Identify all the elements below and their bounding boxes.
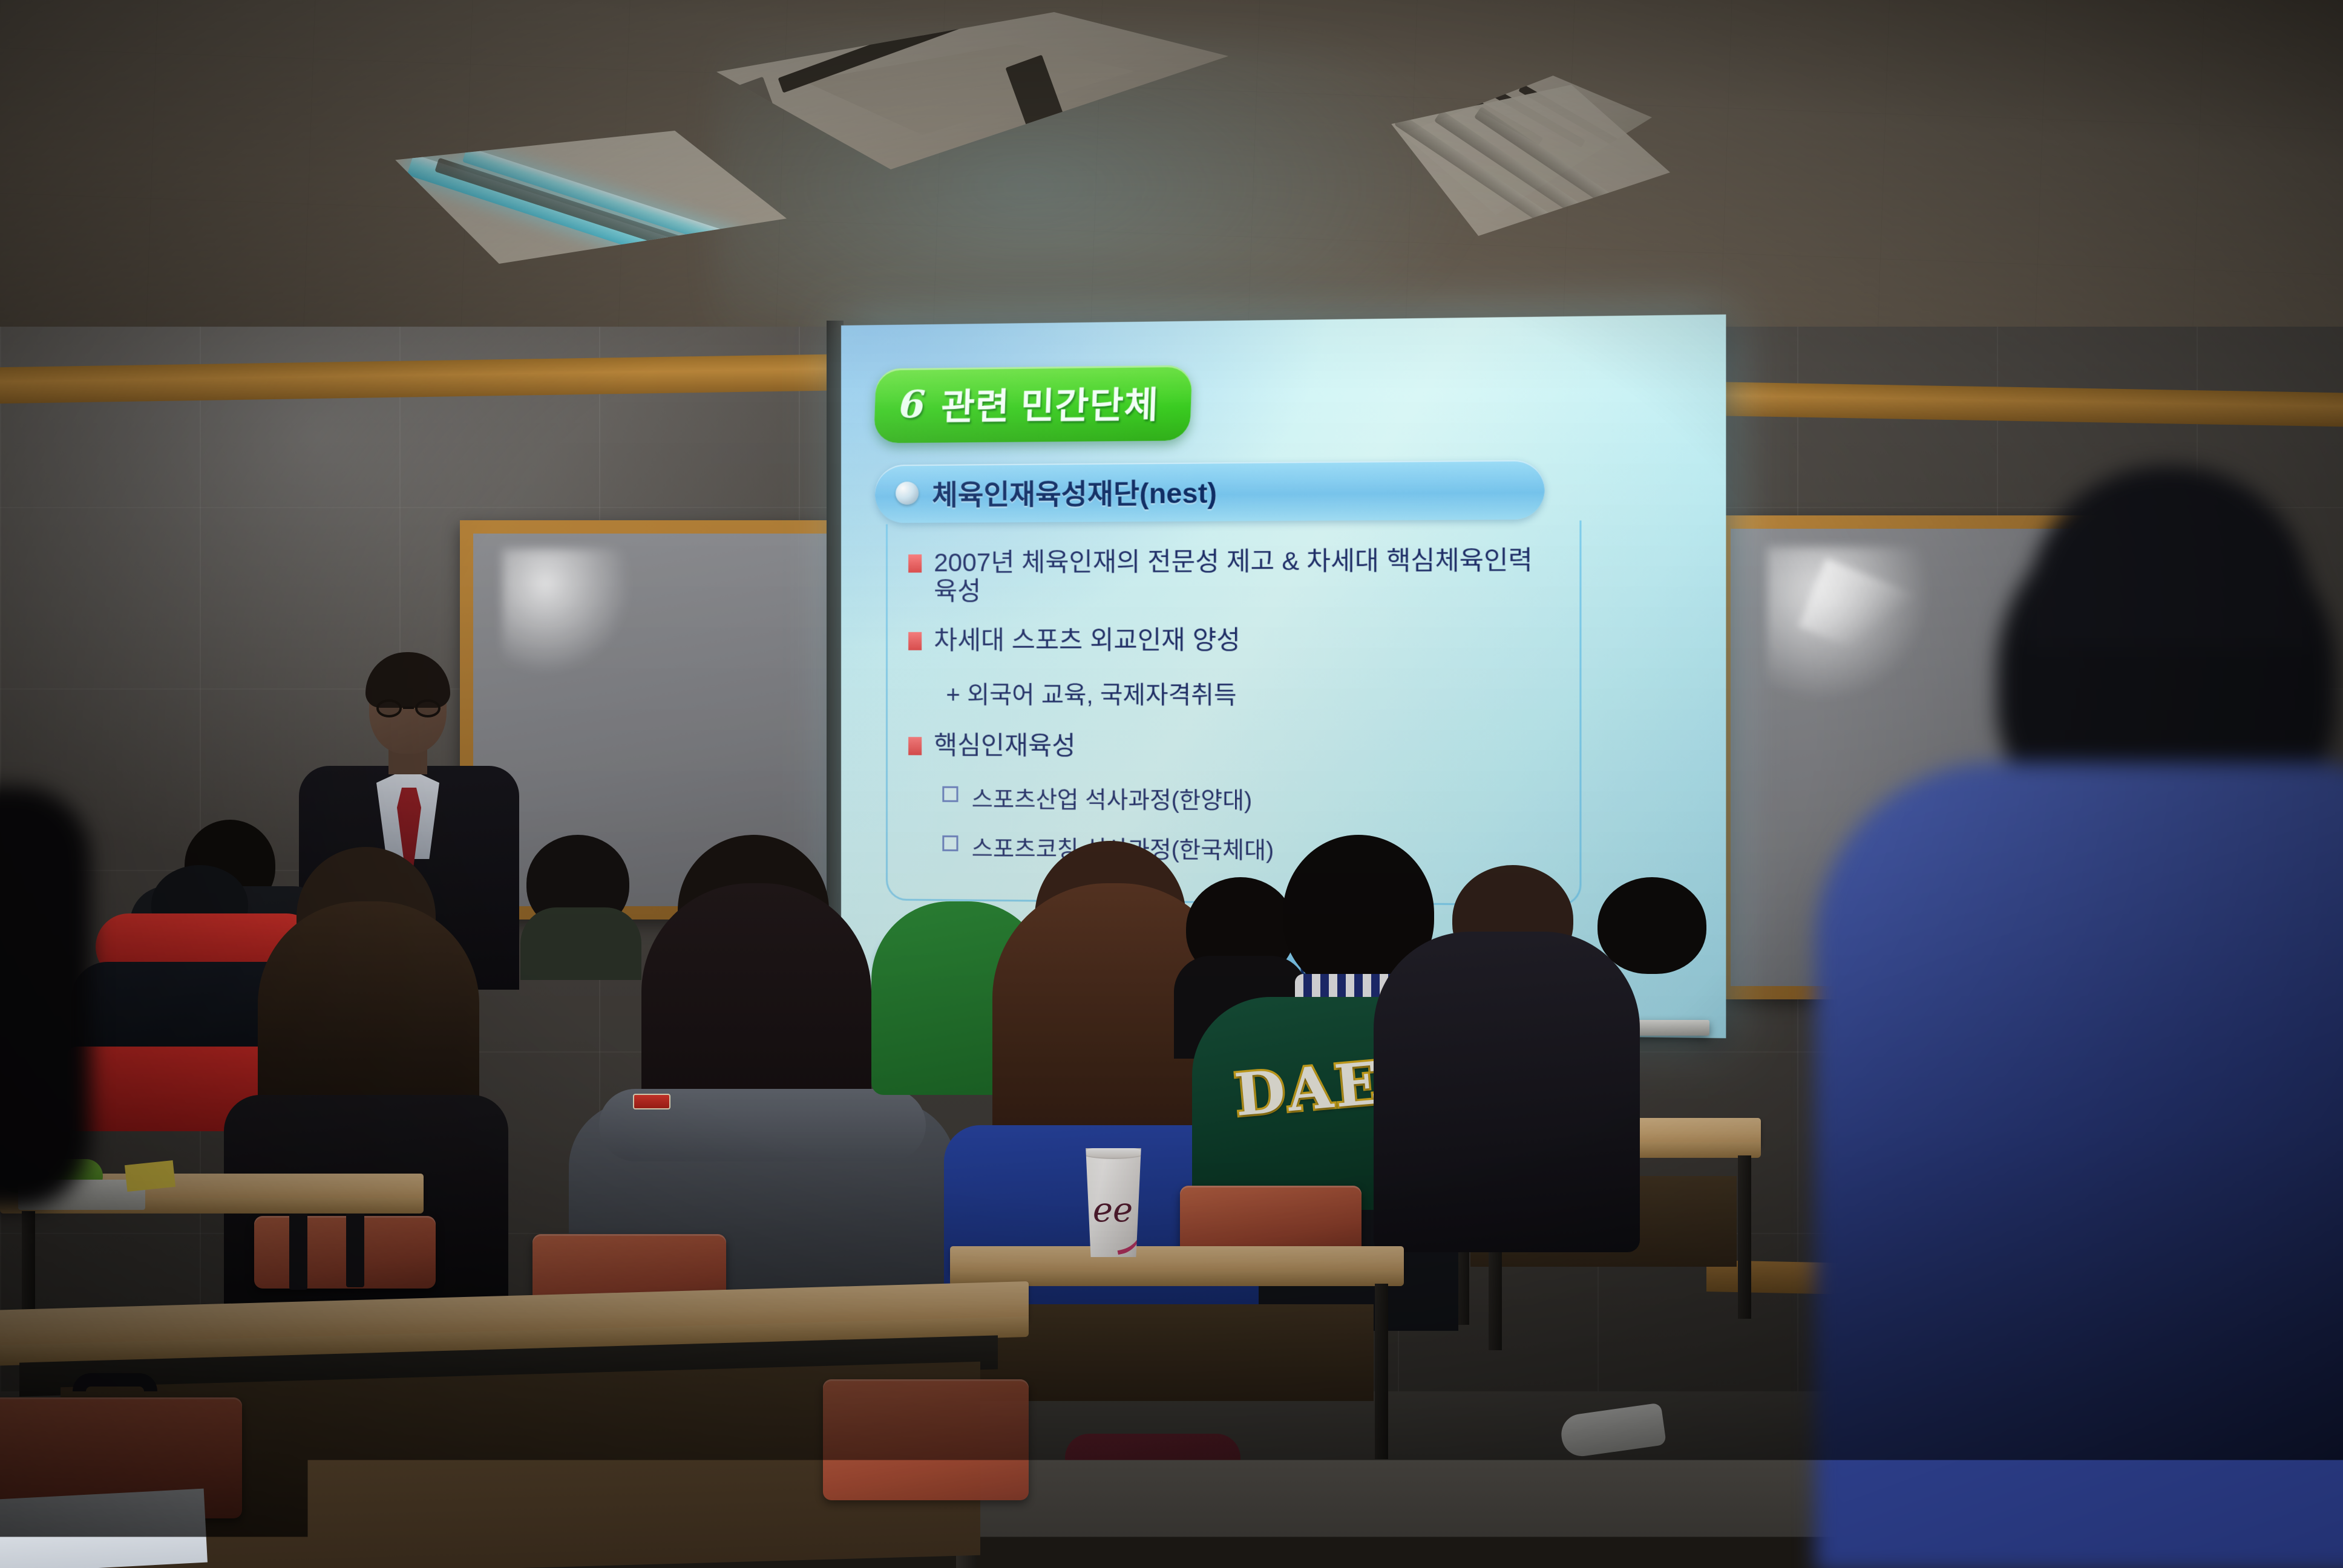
bullet-text: 핵심인재육성 bbox=[934, 731, 1075, 760]
section-1-label: 체육인재육성재단(nest) bbox=[932, 471, 1217, 514]
white-papers-front bbox=[0, 1489, 208, 1568]
classroom-photo: 6 관련 민간단체 체육인재육성재단(nest) 2007년 체육인재의 전문성… bbox=[0, 0, 2343, 1568]
slide-title-text: 관련 민간단체 bbox=[940, 375, 1160, 430]
slide-bullet: 차세대 스포츠 외교인재 양성 bbox=[908, 625, 1558, 655]
bullet-subline: + 외국어 교육, 국제자격취득 bbox=[946, 675, 1558, 711]
bullet-text: 차세대 스포츠 외교인재 양성 bbox=[934, 626, 1240, 655]
bullet-sphere-icon bbox=[896, 482, 919, 505]
bag-handle bbox=[73, 1373, 157, 1391]
paper-coffee-cup: ee bbox=[1082, 1148, 1145, 1257]
foreground-dark-shape-left bbox=[0, 786, 91, 1210]
dickies-brand-tag bbox=[633, 1094, 670, 1109]
desk-leg bbox=[1375, 1284, 1388, 1459]
desk-modesty-panel bbox=[980, 1304, 1374, 1401]
checkbox-icon bbox=[942, 786, 958, 802]
slide-title-badge: 6 관련 민간단체 bbox=[874, 365, 1193, 443]
red-square-bullet-icon bbox=[908, 737, 922, 755]
checkbox-text: 스포츠산업 석사과정(한양대) bbox=[972, 780, 1252, 815]
slide-bullet: 핵심인재육성 bbox=[908, 731, 1558, 761]
slide-bullet: 2007년 체육인재의 전문성 제고 & 차세대 핵심체육인력 육성 bbox=[908, 546, 1558, 606]
foreground-person-blue-puffer bbox=[1743, 502, 2343, 1568]
chair-front-right bbox=[823, 1379, 1029, 1500]
bullet-text: 2007년 체육인재의 전문성 제고 & 차세대 핵심체육인력 육성 bbox=[934, 546, 1558, 606]
student-head bbox=[1597, 877, 1706, 974]
glasses-icon bbox=[376, 699, 441, 717]
red-square-bullet-icon bbox=[908, 554, 922, 572]
backpack bbox=[1065, 1434, 1240, 1568]
slide-checkbox-item: 스포츠산업 석사과정(한양대) bbox=[942, 780, 1558, 817]
slide-section-heading-1: 체육인재육성재단(nest) bbox=[875, 460, 1545, 523]
slide-title-number: 6 bbox=[899, 382, 926, 427]
yellow-paper bbox=[125, 1160, 175, 1192]
student-back-far-right bbox=[1597, 877, 1706, 1010]
red-square-bullet-icon bbox=[908, 632, 922, 650]
